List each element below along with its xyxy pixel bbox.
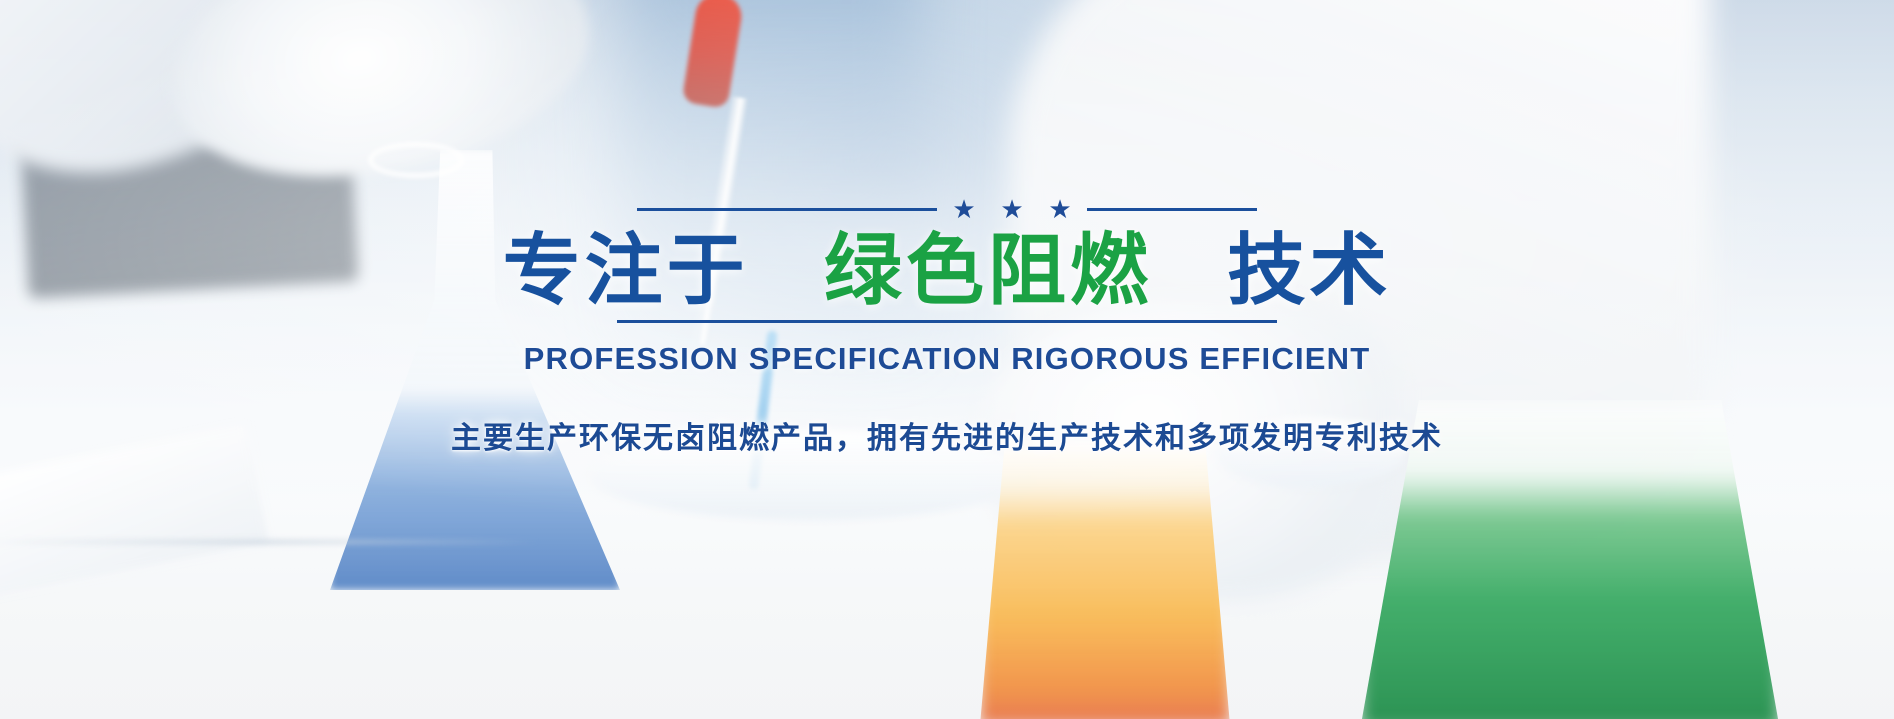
rule-right-segment — [1087, 208, 1257, 211]
headline-underline — [617, 320, 1277, 323]
headline-part-1: 专注于 — [503, 226, 749, 314]
headline-part-3: 技术 — [1227, 226, 1391, 314]
subtitle-english: PROFESSION SPECIFICATION RIGOROUS EFFICI… — [0, 341, 1894, 377]
hero-banner: ★ ★ ★ 专注于 绿色阻燃 技术 PROFESSION SPECIFICATI… — [0, 0, 1894, 719]
decorative-rule: ★ ★ ★ — [547, 196, 1347, 222]
star-icon: ★ — [951, 196, 977, 222]
rule-left-segment — [637, 208, 937, 211]
headline-part-2: 绿色阻燃 — [824, 226, 1152, 314]
tagline-chinese: 主要生产环保无卤阻燃产品，拥有先进的生产技术和多项发明专利技术 — [0, 413, 1894, 457]
hero-content: ★ ★ ★ 专注于 绿色阻燃 技术 PROFESSION SPECIFICATI… — [0, 196, 1894, 457]
star-icon: ★ — [999, 196, 1025, 222]
star-group: ★ ★ ★ — [951, 196, 1073, 222]
star-icon: ★ — [1047, 196, 1073, 222]
page-title: 专注于 绿色阻燃 技术 — [0, 228, 1894, 312]
